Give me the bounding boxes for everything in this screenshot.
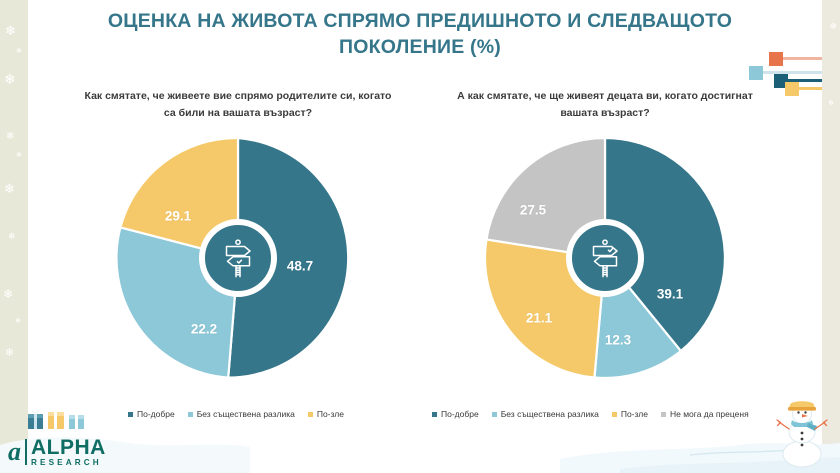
slice-value-worse: 21.1 [526, 310, 552, 325]
legend-swatch-icon [308, 412, 313, 417]
logo-divider [25, 439, 27, 465]
logo-text: ALPHA RESEARCH [31, 437, 106, 467]
legend-item-worse[interactable]: По-зле [308, 409, 344, 419]
legend-label: По-зле [621, 409, 648, 419]
snowflake-icon: ❄ [16, 48, 22, 55]
legend-label: По-добре [137, 409, 175, 419]
donut-chart-children: 39.1 12.3 21.1 27.5 [481, 134, 729, 382]
legend-item-no-difference[interactable]: Без съществена разлика [492, 409, 599, 419]
snow-drift-decor [0, 411, 840, 473]
page-title: ОЦЕНКА НА ЖИВОТА СПРЯМО ПРЕДИШНОТО И СЛЕ… [70, 8, 770, 61]
legend-item-worse[interactable]: По-зле [612, 409, 648, 419]
snowflake-icon: ❄ [4, 72, 16, 86]
chart-panel-children: А как смятате, че ще живеят децата ви, к… [425, 88, 785, 382]
slice-value-no-difference: 12.3 [605, 332, 631, 347]
slice-value-worse: 29.1 [165, 208, 191, 223]
legend-label: По-добре [441, 409, 479, 419]
legend-item-better[interactable]: По-добре [128, 409, 175, 419]
legend-parents: По-добре Без съществена разлика По-зле [128, 409, 344, 419]
donut-hub-parents [199, 219, 277, 297]
legend-item-no-difference[interactable]: Без съществена разлика [188, 409, 295, 419]
legend-swatch-icon [612, 412, 617, 417]
legend-label: Без съществена разлика [197, 409, 295, 419]
donut-hub-children [566, 219, 644, 297]
signpost-icon [587, 238, 623, 278]
snowflake-icon: ❄ [8, 232, 16, 241]
legend-label: Не мога да преценя [670, 409, 749, 419]
legend-swatch-icon [128, 412, 133, 417]
snowflake-icon: ❄ [4, 182, 15, 195]
slice-value-no-difference: 22.2 [191, 321, 217, 336]
legend-label: Без съществена разлика [501, 409, 599, 419]
gift-boxes-decor [26, 404, 88, 437]
chart-subtitle-children: А как смятате, че ще живеят децата ви, к… [425, 88, 785, 122]
snowflake-icon: ❄ [5, 348, 14, 359]
snowflake-icon: ❄ [15, 318, 21, 325]
donut-chart-parents: 48.7 22.2 29.1 [114, 134, 362, 382]
signpost-icon [220, 238, 256, 278]
legend-item-cannot-say[interactable]: Не мога да преценя [661, 409, 749, 419]
snowflake-icon: ❄ [6, 132, 14, 142]
legend-label: По-зле [317, 409, 344, 419]
alpha-symbol-icon: ɑ [8, 439, 21, 465]
legend-swatch-icon [492, 412, 497, 417]
legend-item-better[interactable]: По-добре [432, 409, 479, 419]
chart-panel-parents: Как смятате, че живеете вие спрямо родит… [58, 88, 418, 382]
slide-canvas: ❄ ❄ ❄ ❄ ❄ ❄ ❄ ❄ ❄ ❄ ❄ ❄ ОЦЕНКА НА ЖИВОТА… [0, 0, 840, 473]
snowflake-icon: ❄ [16, 152, 22, 159]
snowflake-icon: ❄ [3, 288, 13, 300]
legend-swatch-icon [188, 412, 193, 417]
slice-value-better: 39.1 [657, 286, 683, 301]
slice-value-cannot-say: 27.5 [520, 202, 546, 217]
legend-children: По-добре Без съществена разлика По-зле Н… [432, 409, 749, 419]
snowman-decor [774, 396, 830, 473]
logo-tagline: RESEARCH [31, 459, 106, 467]
legend-swatch-icon [432, 412, 437, 417]
snowflake-icon: ❄ [829, 22, 837, 31]
snowflake-icon: ❄ [5, 24, 16, 37]
snowflake-icon: ❄ [828, 100, 834, 107]
brand-logo: ɑ ALPHA RESEARCH [8, 437, 106, 467]
slice-value-better: 48.7 [287, 258, 313, 273]
legend-swatch-icon [661, 412, 666, 417]
chart-subtitle-parents: Как смятате, че живеете вие спрямо родит… [58, 88, 418, 122]
logo-name: ALPHA [31, 437, 106, 458]
